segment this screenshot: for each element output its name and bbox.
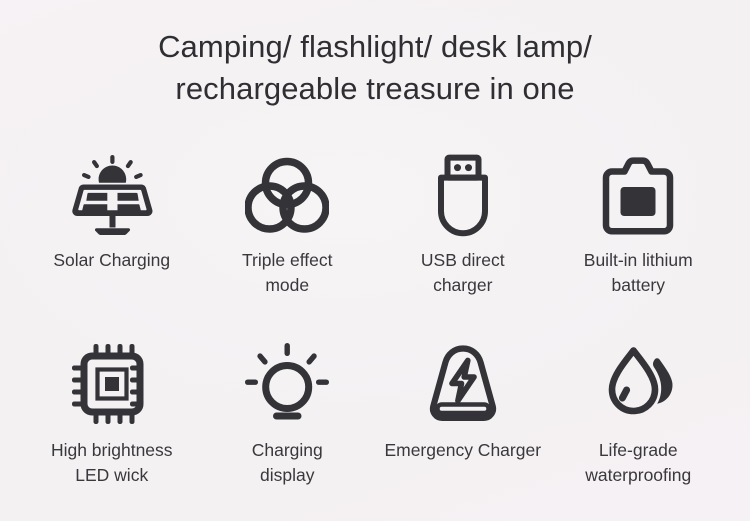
feature-item-lithium-battery: Built-in lithium battery [551, 146, 727, 332]
feature-label: Emergency Charger [384, 438, 541, 463]
battery-icon [602, 150, 674, 242]
feature-label: High brightness LED wick [51, 438, 173, 488]
feature-item-waterproofing: Life-grade waterproofing [551, 332, 727, 518]
water-drop-icon [597, 336, 679, 432]
chip-icon [72, 336, 152, 432]
feature-label: Life-grade waterproofing [585, 438, 691, 488]
solar-panel-icon [70, 150, 154, 242]
brightness-bulb-icon [245, 336, 329, 432]
feature-label: Solar Charging [53, 248, 170, 273]
feature-label: Built-in lithium battery [584, 248, 693, 298]
usb-plug-icon [429, 150, 497, 242]
feature-item-triple-effect-mode: Triple effect mode [200, 146, 376, 332]
feature-grid: Solar Charging Triple effect mode [24, 146, 726, 518]
feature-item-led-wick: High brightness LED wick [24, 332, 200, 518]
feature-item-charging-display: Charging display [200, 332, 376, 518]
three-circles-icon [245, 150, 329, 242]
feature-item-solar-charging: Solar Charging [24, 146, 200, 332]
feature-item-emergency-charger: Emergency Charger [375, 332, 551, 518]
feature-label: Charging display [252, 438, 323, 488]
feature-label: USB direct charger [421, 248, 505, 298]
page-title: Camping/ flashlight/ desk lamp/ recharge… [0, 26, 750, 110]
feature-label: Triple effect mode [242, 248, 332, 298]
feature-item-usb-direct-charger: USB direct charger [375, 146, 551, 332]
feature-highlight-banner: Camping/ flashlight/ desk lamp/ recharge… [0, 0, 750, 521]
power-bank-bolt-icon [422, 336, 504, 432]
